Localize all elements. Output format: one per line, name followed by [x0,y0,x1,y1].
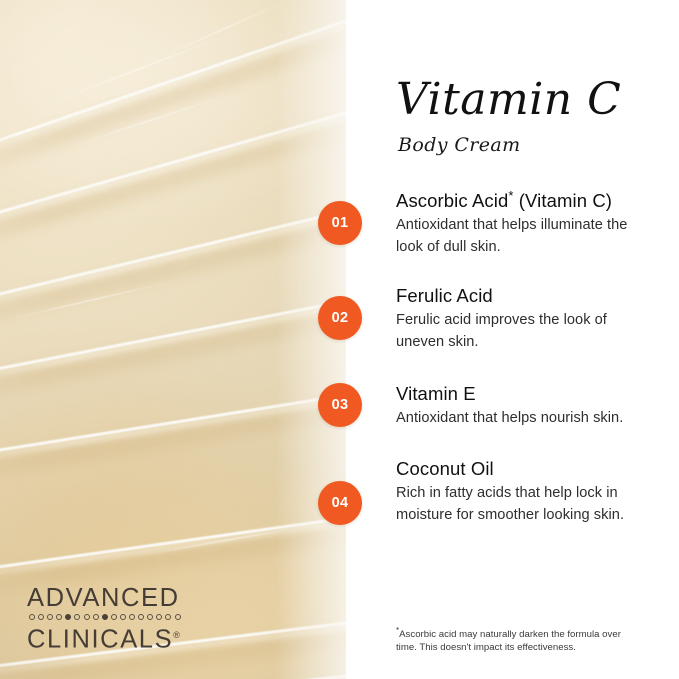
brand-logo-line2: CLINICALS [27,625,173,653]
brand-logo: ADVANCED CLINICALS® [27,585,217,654]
ingredient-item-2: Ferulic Acid Ferulic acid improves the l… [396,285,658,353]
ingredient-desc-1: Antioxidant that helps illuminate the lo… [396,215,658,258]
ingredient-badge-2: 02 [318,296,362,340]
brand-logo-dot-divider [29,613,217,622]
product-title: Vitamin C [396,76,621,124]
ingredient-badge-3: 03 [318,383,362,427]
ingredient-name-1-suffix: (Vitamin C) [514,190,613,211]
ingredient-name-1: Ascorbic Acid* (Vitamin C) [396,190,658,212]
brand-logo-line2-wrap: CLINICALS® [27,622,217,654]
footnote: *Ascorbic acid may naturally darken the … [396,628,641,654]
ingredient-item-3: Vitamin E Antioxidant that helps nourish… [396,383,658,430]
ingredient-desc-4: Rich in fatty acids that help lock in mo… [396,483,658,526]
ingredient-name-2: Ferulic Acid [396,285,658,307]
ingredient-item-4: Coconut Oil Rich in fatty acids that hel… [396,458,658,526]
product-infographic: ADVANCED CLINICALS® Vitamin C Body Cream… [0,0,679,679]
ingredient-badge-1: 01 [318,201,362,245]
ingredient-desc-3: Antioxidant that helps nourish skin. [396,408,658,430]
brand-logo-line1: ADVANCED [27,585,217,612]
info-panel: Vitamin C Body Cream Ascorbic Acid* (Vit… [346,0,679,679]
ingredient-item-1: Ascorbic Acid* (Vitamin C) Antioxidant t… [396,190,658,258]
ingredient-name-3: Vitamin E [396,383,658,405]
ingredient-name-4: Coconut Oil [396,458,658,480]
product-subtitle: Body Cream [398,134,521,156]
cream-texture-photo [0,0,346,679]
footnote-text: Ascorbic acid may naturally darken the f… [396,629,621,653]
ingredient-name-1-text: Ascorbic Acid [396,190,508,211]
ingredient-badge-4: 04 [318,481,362,525]
registered-trademark-icon: ® [173,630,180,640]
ingredient-desc-2: Ferulic acid improves the look of uneven… [396,310,658,353]
